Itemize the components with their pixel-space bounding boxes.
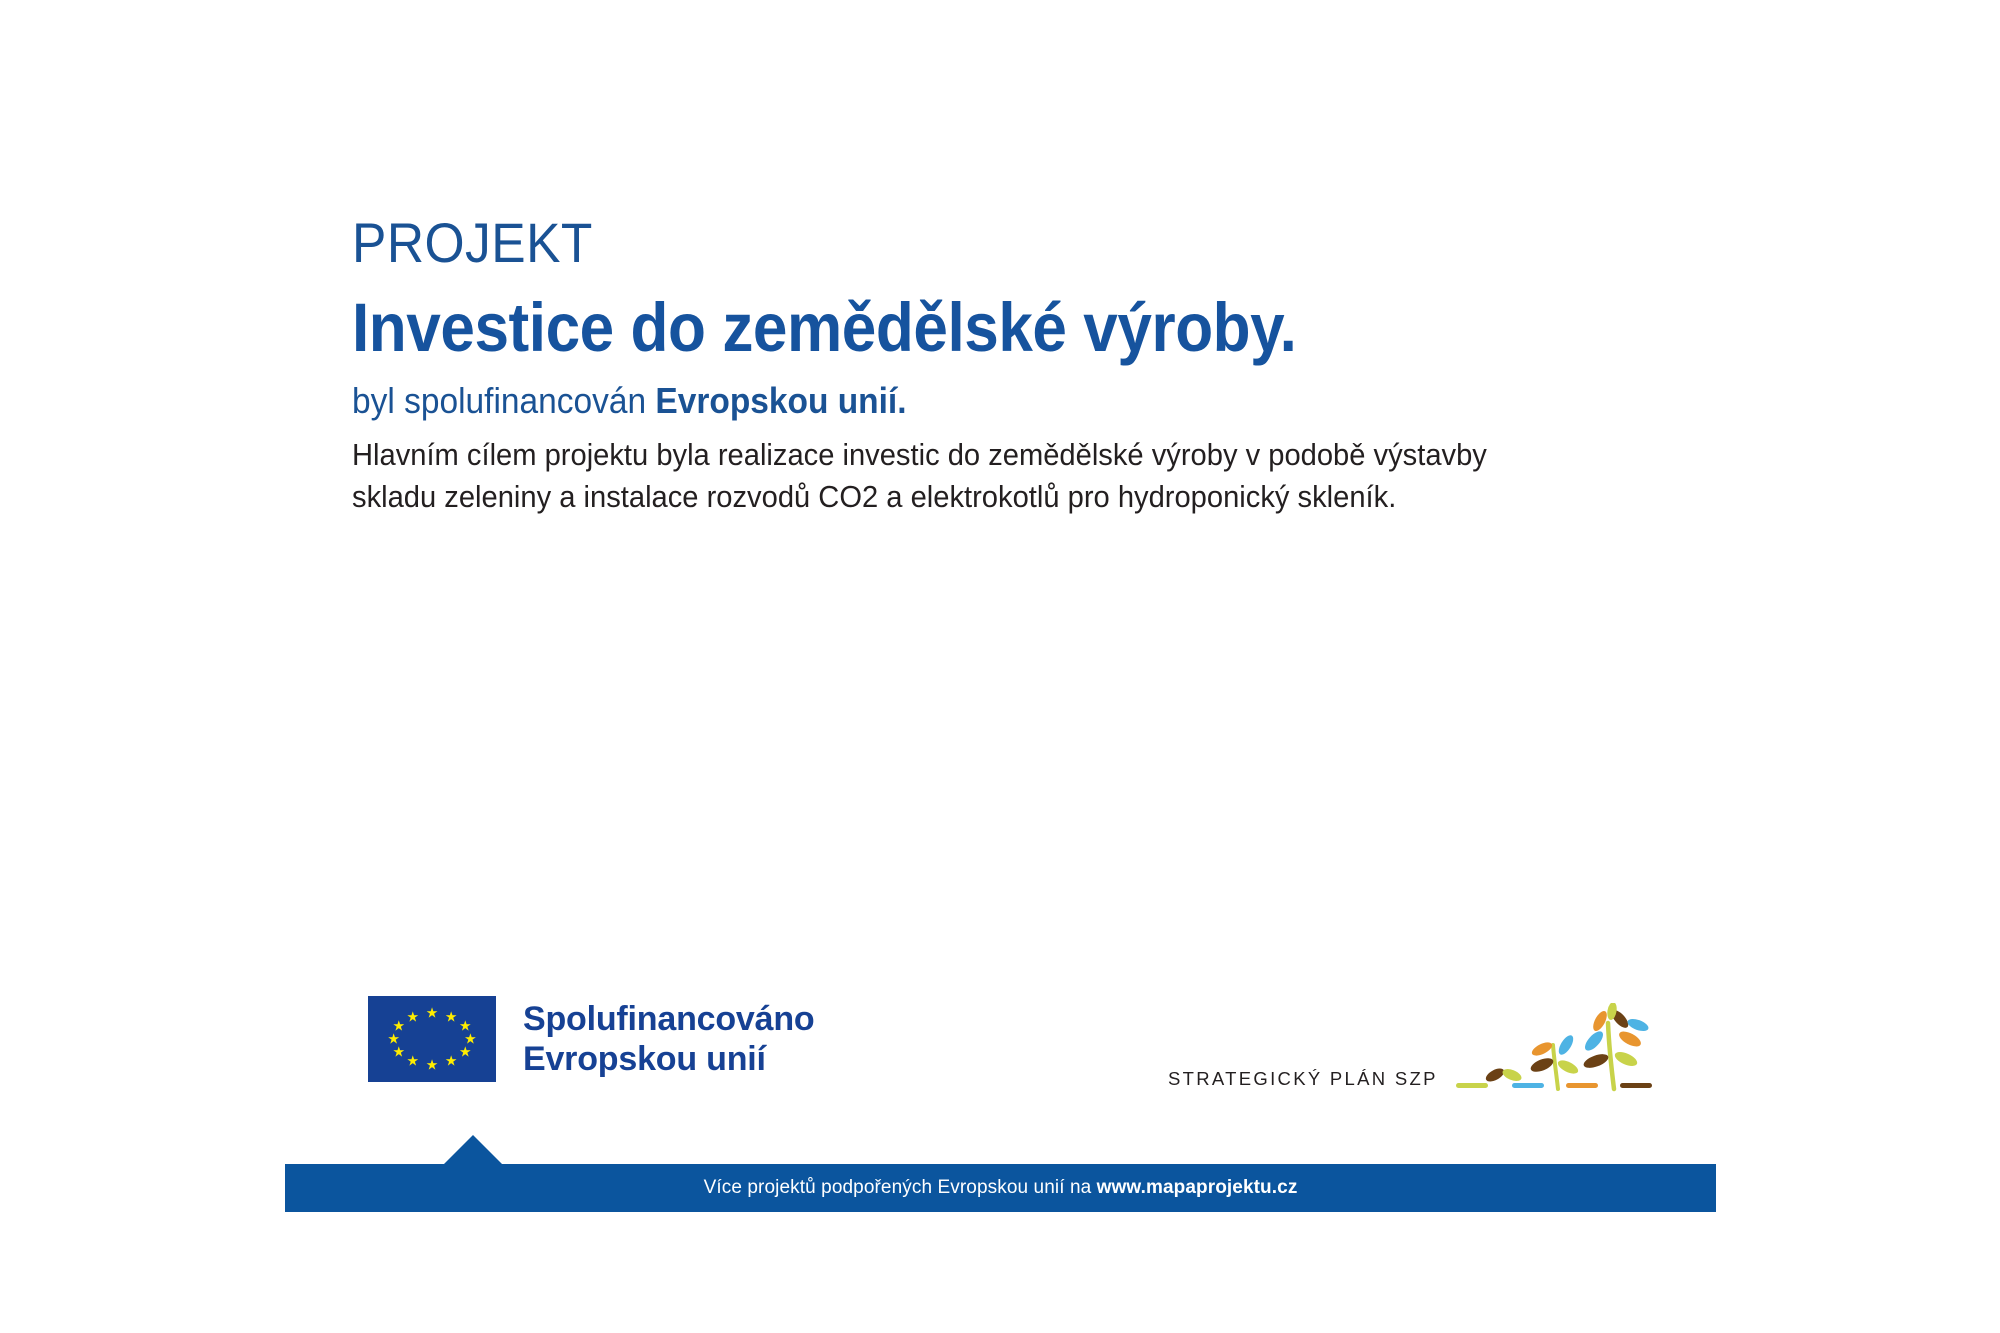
banner-caption: Více projektů podpořených Evropskou unií…: [285, 1177, 1716, 1199]
bottom-banner: Více projektů podpořených Evropskou unií…: [285, 1164, 1716, 1212]
poster-description: Hlavním cílem projektu byla realizace in…: [352, 434, 1551, 518]
project-poster: PROJEKT Investice do zemědělské výroby. …: [0, 0, 2000, 1333]
description-line-1: Hlavním cílem projektu byla realizace in…: [352, 434, 1551, 476]
eu-cofunding-logo: Spolufinancováno Evropskou unií: [368, 996, 814, 1082]
poster-subline: byl spolufinancován Evropskou unií.: [352, 382, 1561, 420]
eu-logo-line-2: Evropskou unií: [523, 1039, 814, 1079]
eu-flag-icon: [368, 996, 496, 1082]
banner-url-link[interactable]: www.mapaprojektu.cz: [1097, 1177, 1298, 1198]
poster-content: PROJEKT Investice do zemědělské výroby. …: [352, 215, 1652, 518]
szp-logo-label: STRATEGICKÝ PLÁN SZP: [1168, 1068, 1438, 1090]
subline-prefix: byl spolufinancován: [352, 380, 655, 421]
banner-text: Více projektů podpořených Evropskou unií…: [704, 1177, 1097, 1198]
growing-plants-icon: [1454, 1003, 1672, 1103]
poster-kicker: PROJEKT: [352, 215, 1548, 271]
eu-logo-line-1: Spolufinancováno: [523, 999, 814, 1039]
szp-logo: STRATEGICKÝ PLÁN SZP: [1168, 1055, 1672, 1103]
eu-logo-text: Spolufinancováno Evropskou unií: [523, 999, 814, 1079]
subline-emphasis: Evropskou unií.: [655, 380, 906, 421]
banner-notch-triangle: [443, 1135, 503, 1165]
description-line-2: skladu zeleniny a instalace rozvodů CO2 …: [352, 476, 1551, 518]
poster-headline: Investice do zemědělské výroby.: [352, 293, 1522, 362]
